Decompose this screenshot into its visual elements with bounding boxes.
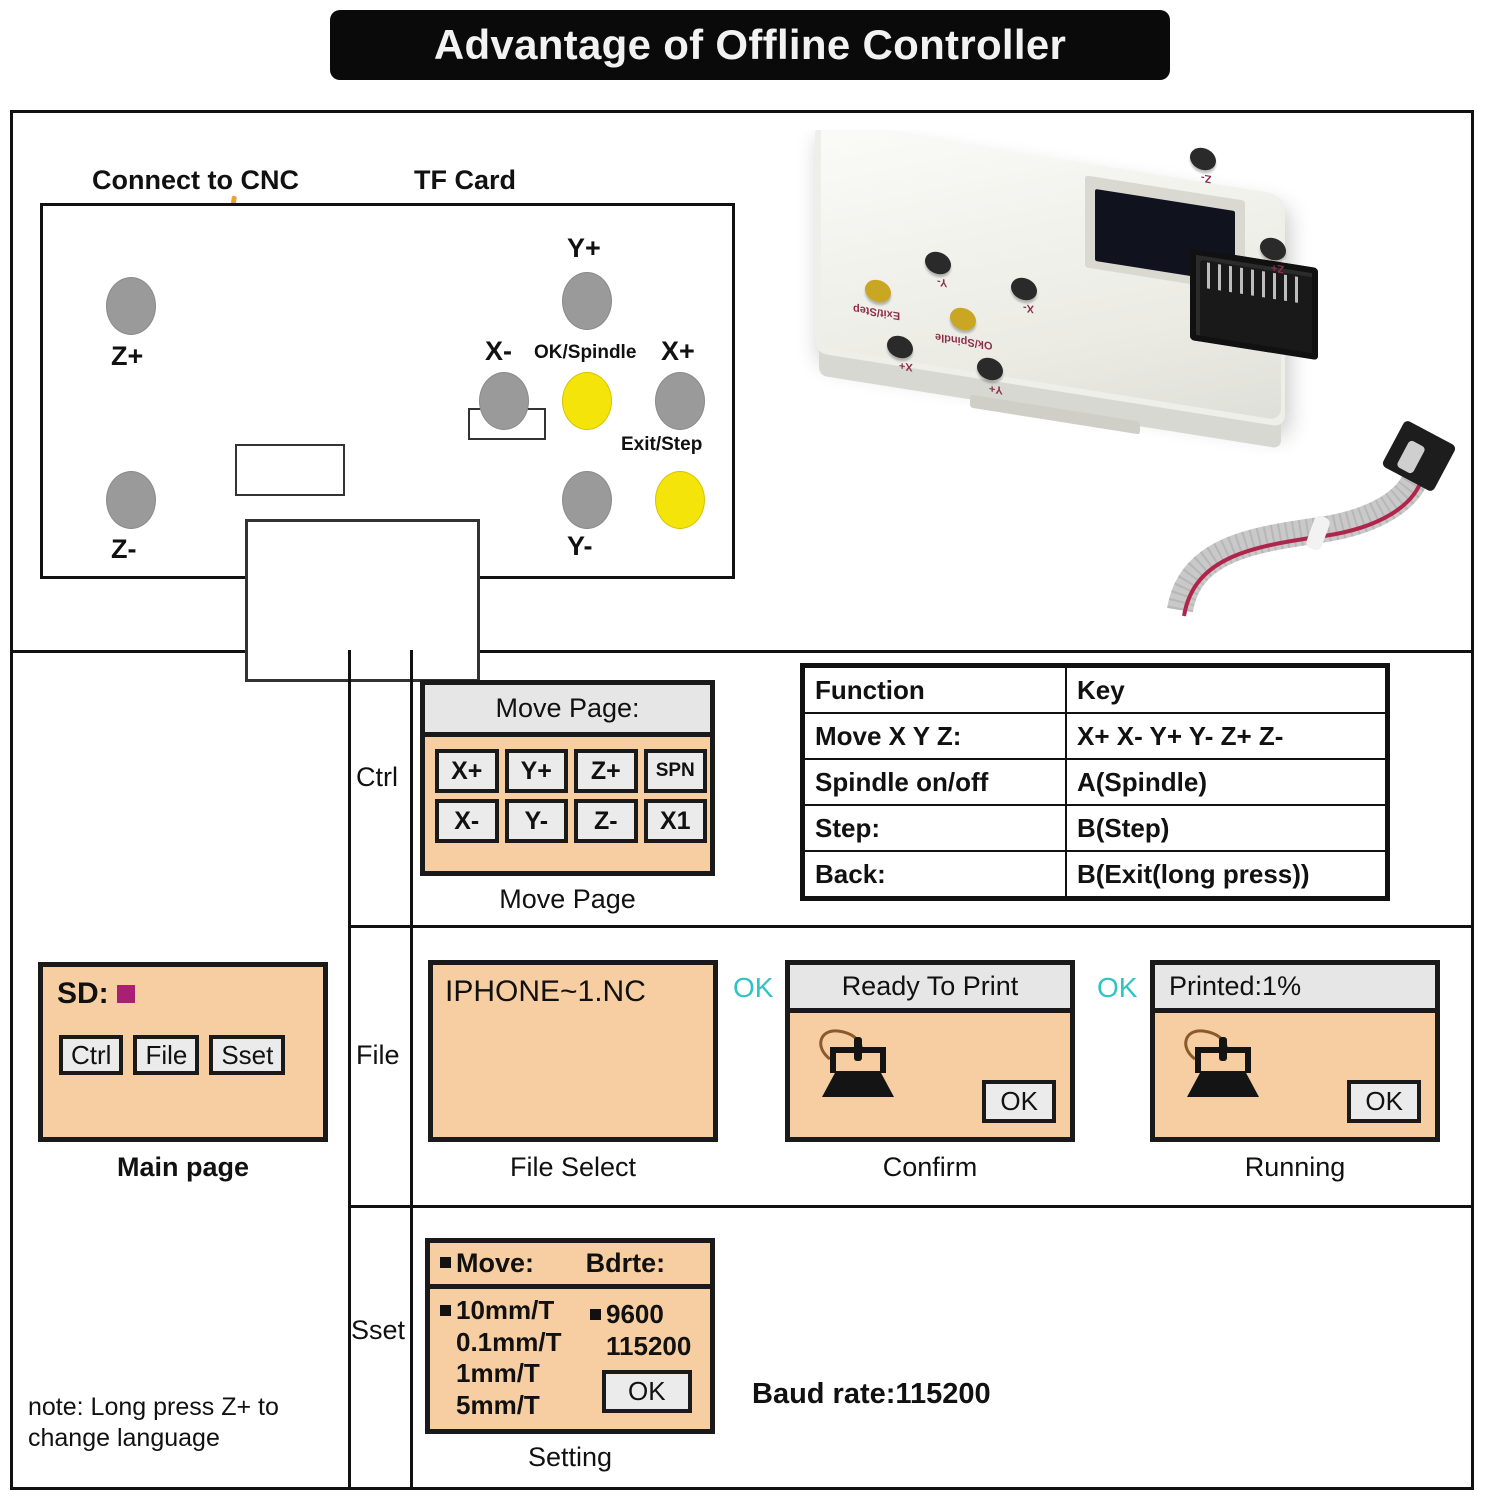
- photo-label-x-minus: X-: [1023, 301, 1034, 315]
- page-title: Advantage of Offline Controller: [434, 21, 1066, 69]
- row-label-sset: Sset: [351, 1315, 405, 1346]
- move-option-1mm[interactable]: 1mm/T: [440, 1358, 562, 1390]
- file-select-caption: File Select: [428, 1152, 718, 1183]
- move-option-10mm[interactable]: 10mm/T: [440, 1295, 562, 1327]
- running-ok-button[interactable]: OK: [1347, 1080, 1421, 1123]
- baud-option-9600[interactable]: 9600: [590, 1299, 691, 1331]
- transition-ok-2: OK: [1097, 972, 1137, 1004]
- diagram-button-exit-step[interactable]: [655, 471, 705, 529]
- device-card-slot: [970, 395, 1140, 435]
- selected-bullet-icon: [440, 1305, 451, 1316]
- setting-move-options: 10mm/T 0.1mm/T 1mm/T 5mm/T: [440, 1295, 562, 1422]
- main-page-caption: Main page: [38, 1152, 328, 1183]
- diagram-button-y-minus[interactable]: [562, 471, 612, 529]
- diagram-label-exit-step: Exit/Step: [621, 434, 702, 456]
- diagram-button-y-plus[interactable]: [562, 272, 612, 330]
- table-cell-key-move: X+ X- Y+ Y- Z+ Z-: [1066, 713, 1386, 759]
- move-page-header: Move Page:: [425, 685, 710, 737]
- table-cell-function-spindle: Spindle on/off: [804, 759, 1066, 805]
- diagram-button-x-minus[interactable]: [479, 372, 529, 430]
- function-key-table: Function Key Move X Y Z: X+ X- Y+ Y- Z+ …: [800, 663, 1390, 901]
- sd-indicator-icon: [117, 985, 135, 1003]
- selected-bullet-icon: [590, 1309, 601, 1320]
- table-cell-function-back: Back:: [804, 851, 1066, 897]
- movepage-key-x1[interactable]: X1: [644, 799, 708, 843]
- table-row: Step: B(Step): [804, 805, 1386, 851]
- row-label-file: File: [356, 1040, 400, 1071]
- table-cell-key-back: B(Exit(long press)): [1066, 851, 1386, 897]
- photo-label-y-minus: Y-: [937, 275, 947, 289]
- confirm-caption: Confirm: [785, 1152, 1075, 1183]
- table-row: Spindle on/off A(Spindle): [804, 759, 1386, 805]
- move-option-0-1mm[interactable]: 0.1mm/T: [440, 1327, 562, 1359]
- movepage-key-spn[interactable]: SPN: [644, 749, 708, 793]
- movepage-key-x-minus[interactable]: X-: [435, 799, 499, 843]
- photo-label-z-minus: Z-: [1201, 171, 1211, 185]
- setting-caption: Setting: [425, 1442, 715, 1473]
- row-label-ctrl: Ctrl: [356, 762, 398, 793]
- controller-outline: Z+ Z- Y+ X- OK/Spindle X+ Y- Exit/Step: [40, 203, 735, 579]
- grid-vline-rowlabels-right: [410, 650, 413, 1490]
- running-header: Printed:1%: [1155, 965, 1435, 1013]
- baud-rate-note: Baud rate:115200: [752, 1378, 991, 1411]
- diagram-label-z-plus: Z+: [111, 341, 143, 372]
- confirm-header: Ready To Print: [790, 965, 1070, 1013]
- move-option-5mm[interactable]: 5mm/T: [440, 1390, 562, 1422]
- setting-baud-header: Bdrte:: [586, 1248, 666, 1279]
- diagram-label-y-plus: Y+: [567, 233, 601, 264]
- language-note: note: Long press Z+ to change language: [28, 1392, 338, 1455]
- main-page-menu: Ctrl File Sset: [59, 1035, 285, 1075]
- photo-label-y-plus: Y+: [989, 382, 1003, 396]
- sd-label: SD:: [57, 977, 109, 1011]
- grid-hline-file-sset: [348, 1205, 1474, 1208]
- file-select-screen: IPHONE~1.NC: [428, 960, 718, 1142]
- page-root: Advantage of Offline Controller Connect …: [0, 0, 1485, 1500]
- diagram-button-x-plus[interactable]: [655, 372, 705, 430]
- photo-button-z-minus[interactable]: [1190, 146, 1216, 172]
- move-page-keypad: X+ Y+ Z+ SPN X- Y- Z- X1: [435, 749, 707, 843]
- plotter-icon: [1177, 1023, 1273, 1101]
- table-cell-key-spindle: A(Spindle): [1066, 759, 1386, 805]
- grid-hline-ctrl-file: [348, 925, 1474, 928]
- lcd-screen-rect: [245, 519, 480, 682]
- product-photo: Exit/Step Ok/Spindle X+ X- Y+ Y- Z+ Z-: [795, 130, 1467, 630]
- movepage-key-z-plus[interactable]: Z+: [574, 749, 638, 793]
- diagram-button-z-plus[interactable]: [106, 277, 156, 335]
- setting-screen: Move: Bdrte: 10mm/T 0.1mm/T 1mm/T 5mm/T …: [425, 1238, 715, 1434]
- photo-label-z-plus: Z+: [1271, 261, 1284, 275]
- table-cell-key-step: B(Step): [1066, 805, 1386, 851]
- diagram-label-x-minus: X-: [485, 336, 512, 367]
- movepage-key-y-minus[interactable]: Y-: [505, 799, 569, 843]
- diagram-label-x-plus: X+: [661, 336, 695, 367]
- diagram-label-ok-spindle: OK/Spindle: [534, 342, 636, 364]
- diagram-label-y-minus: Y-: [567, 531, 593, 562]
- table-row: Back: B(Exit(long press)): [804, 851, 1386, 897]
- movepage-key-x-plus[interactable]: X+: [435, 749, 499, 793]
- setting-ok-button[interactable]: OK: [602, 1370, 692, 1413]
- confirm-ok-button[interactable]: OK: [982, 1080, 1056, 1123]
- move-page-caption: Move Page: [420, 884, 715, 915]
- file-select-filename[interactable]: IPHONE~1.NC: [445, 975, 646, 1009]
- table-row: Move X Y Z: X+ X- Y+ Y- Z+ Z-: [804, 713, 1386, 759]
- page-title-banner: Advantage of Offline Controller: [330, 10, 1170, 80]
- ribbon-cable: [1160, 420, 1460, 620]
- cnc-connector-rect: [235, 444, 345, 496]
- baud-option-115200[interactable]: 115200: [590, 1331, 691, 1363]
- table-cell-function-move: Move X Y Z:: [804, 713, 1066, 759]
- move-page-screen: Move Page: X+ Y+ Z+ SPN X- Y- Z- X1: [420, 680, 715, 876]
- movepage-key-z-minus[interactable]: Z-: [574, 799, 638, 843]
- running-screen: Printed:1% OK: [1150, 960, 1440, 1142]
- connect-to-cnc-label: Connect to CNC: [92, 165, 299, 196]
- main-page-screen: SD: Ctrl File Sset: [38, 962, 328, 1142]
- table-header-function: Function: [804, 667, 1066, 713]
- plotter-icon: [812, 1023, 908, 1101]
- diagram-button-z-minus[interactable]: [106, 471, 156, 529]
- photo-label-x-plus: X+: [899, 359, 913, 373]
- diagram-label-z-minus: Z-: [111, 534, 136, 565]
- setting-header-row: Move: Bdrte:: [430, 1243, 710, 1289]
- move-header-bullet-icon: [440, 1257, 451, 1268]
- sd-status: SD:: [57, 977, 135, 1011]
- table-header-row: Function Key: [804, 667, 1386, 713]
- setting-baud-options: 9600 115200: [590, 1299, 691, 1362]
- table-cell-function-step: Step:: [804, 805, 1066, 851]
- setting-move-header: Move:: [430, 1248, 586, 1279]
- confirm-screen: Ready To Print OK: [785, 960, 1075, 1142]
- diagram-button-ok-spindle[interactable]: [562, 372, 612, 430]
- grid-vline-rowlabels-left: [348, 650, 351, 1490]
- running-caption: Running: [1150, 1152, 1440, 1183]
- table-header-key: Key: [1066, 667, 1386, 713]
- movepage-key-y-plus[interactable]: Y+: [505, 749, 569, 793]
- section-divider: [10, 650, 1474, 653]
- transition-ok-1: OK: [733, 972, 773, 1004]
- main-page-key-sset[interactable]: Sset: [209, 1035, 285, 1075]
- tf-card-label: TF Card: [414, 165, 516, 196]
- main-page-key-ctrl[interactable]: Ctrl: [59, 1035, 123, 1075]
- main-page-key-file[interactable]: File: [133, 1035, 199, 1075]
